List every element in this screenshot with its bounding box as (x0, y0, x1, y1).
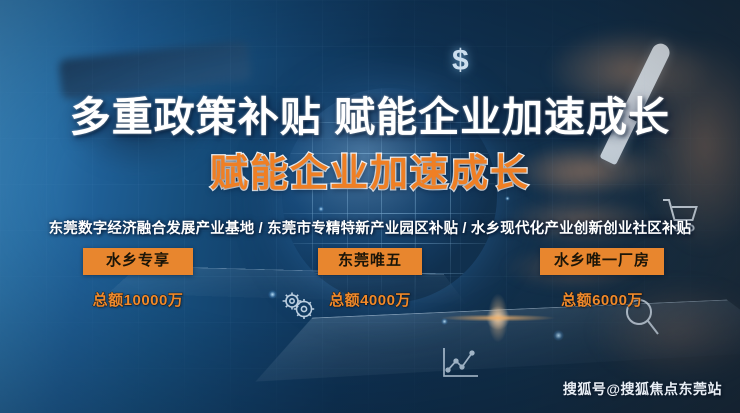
dollar-icon: $ (452, 44, 469, 78)
sub-headline: 赋能企业加速成长 (0, 155, 740, 195)
offer-amount: 总额4000万 (285, 289, 455, 310)
offer-card: 东莞唯五 总额4000万 (285, 248, 455, 310)
offer-amount: 总额10000万 (53, 289, 223, 310)
banner-content: $ 多重政策补贴 赋能企业加速成长 赋能企业加速成长 东莞数字经济融合发展产业基… (0, 0, 740, 413)
promo-banner: $ 多重政策补贴 赋能企业加速成长 赋能企业加速成长 东莞数字经济融合发展产业基… (0, 0, 740, 413)
watermark: 搜狐号@搜狐焦点东莞站 (563, 379, 722, 399)
status-badge: 水乡唯一厂房 (540, 248, 664, 275)
tagline: 东莞数字经济融合发展产业基地 / 东莞市专精特新产业园区补贴 / 水乡现代化产业… (0, 217, 740, 238)
offer-card: 水乡专享 总额10000万 (53, 248, 223, 310)
status-badge: 水乡专享 (83, 248, 193, 275)
offer-card-list: 水乡专享 总额10000万 东莞唯五 总额4000万 水乡唯一厂房 总额6000… (0, 248, 740, 310)
status-badge: 东莞唯五 (318, 248, 422, 275)
offer-card: 水乡唯一厂房 总额6000万 (517, 248, 687, 310)
page-title: 多重政策补贴 赋能企业加速成长 (0, 96, 740, 139)
offer-amount: 总额6000万 (517, 289, 687, 310)
